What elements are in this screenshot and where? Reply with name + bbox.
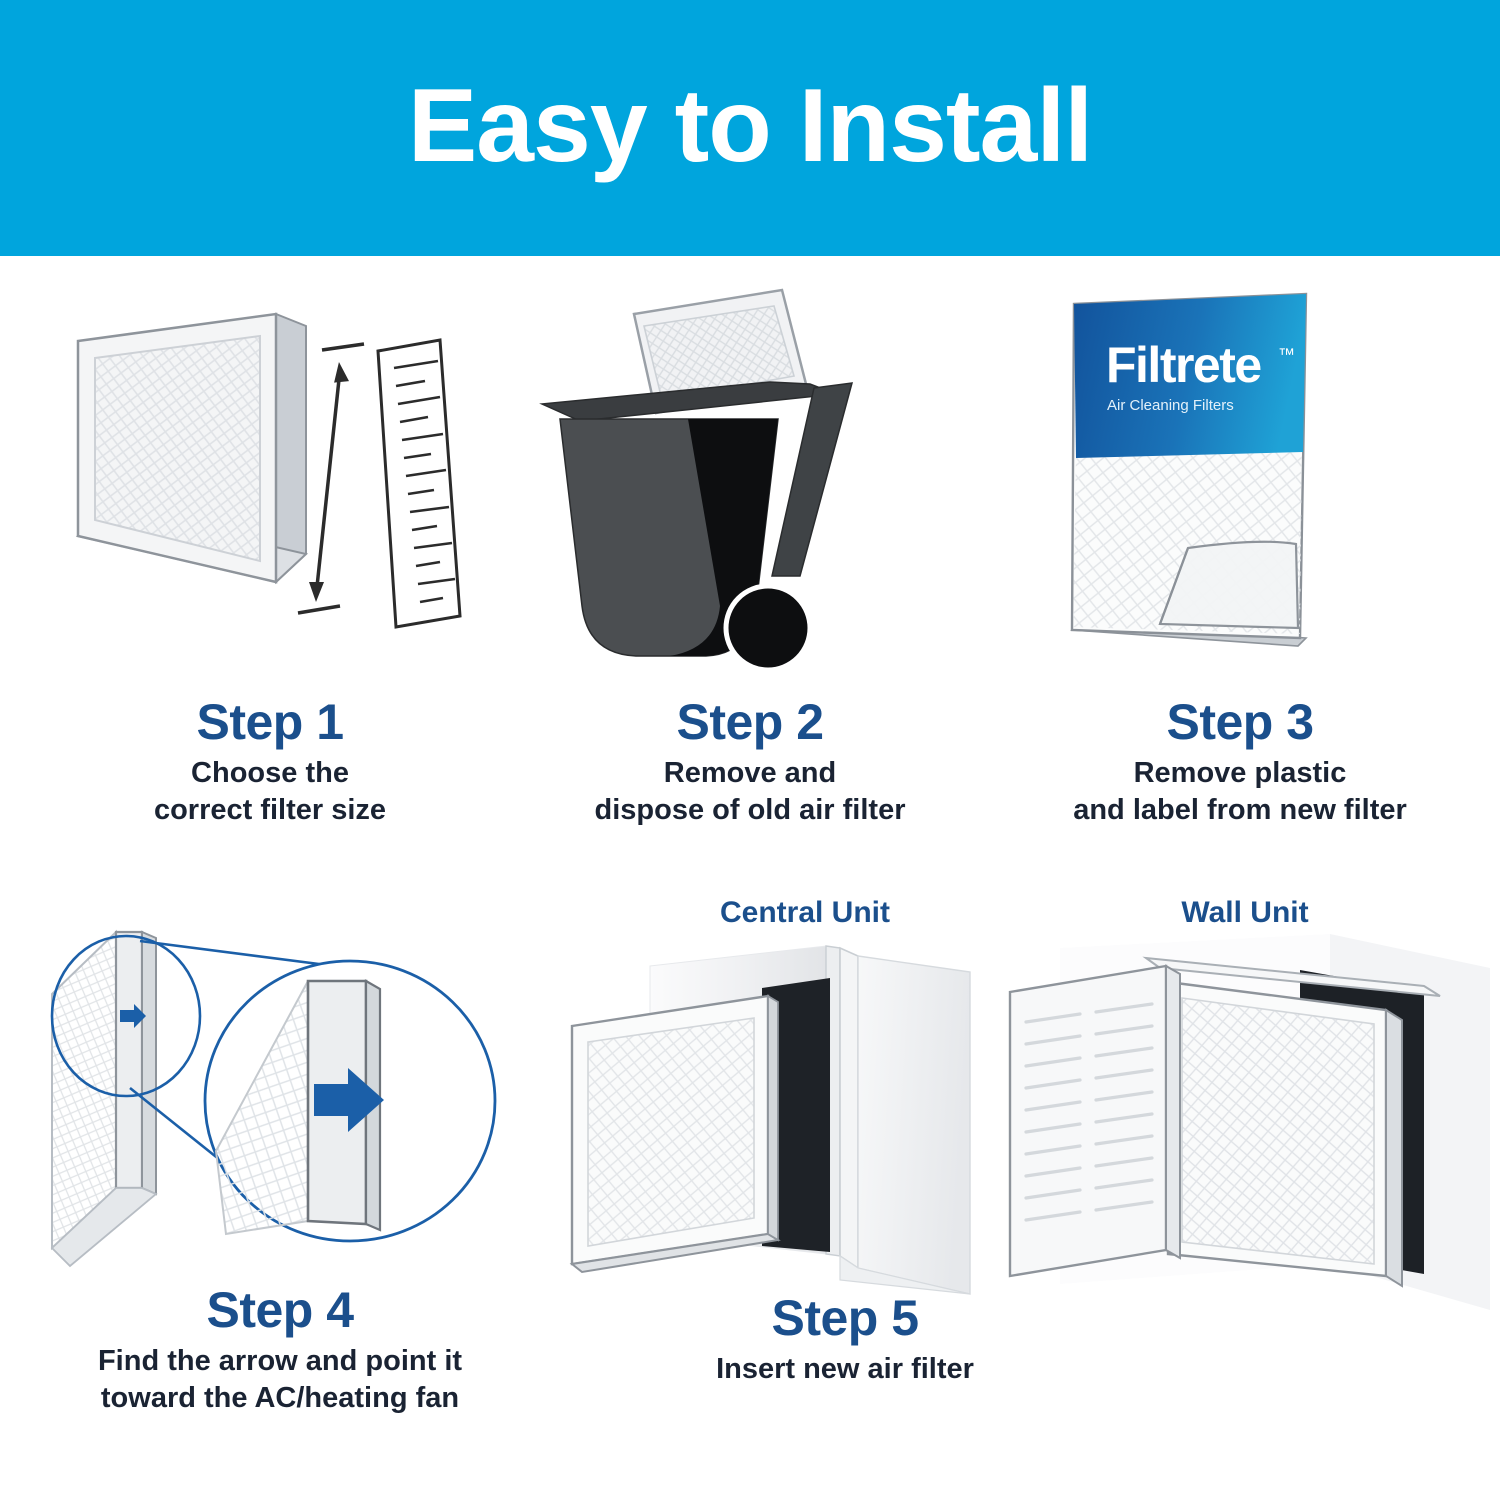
step-1-illustration bbox=[40, 296, 500, 696]
step-card-1: Step 1 Choose the correct filter size bbox=[40, 296, 500, 829]
central-unit-label: Central Unit bbox=[645, 898, 965, 928]
step-2-title: Step 2 bbox=[520, 696, 980, 749]
step-card-5: Central Unit Wall Unit bbox=[540, 886, 1490, 1388]
step-1-description: Choose the correct filter size bbox=[40, 755, 500, 829]
step-3-caption: Step 3 Remove plastic and label from new… bbox=[1010, 696, 1470, 829]
step-4-illustration bbox=[20, 886, 540, 1276]
wall-unit-group bbox=[1010, 934, 1490, 1310]
step-5-description: Insert new air filter bbox=[565, 1351, 1125, 1388]
step-4-description: Find the arrow and point it toward the A… bbox=[20, 1343, 540, 1417]
measurement-arrow-icon bbox=[298, 344, 364, 613]
package-trademark-text: ™ bbox=[1278, 345, 1295, 364]
step-2-illustration bbox=[520, 276, 980, 696]
step-3-title: Step 3 bbox=[1010, 696, 1470, 749]
step-card-3: Filtrete ™ Air Cleaning Filters Step 3 R… bbox=[1010, 286, 1470, 829]
filtrete-packaged-filter-icon: Filtrete ™ Air Cleaning Filters bbox=[1010, 286, 1470, 696]
step-card-4: Step 4 Find the arrow and point it towar… bbox=[20, 886, 540, 1417]
trash-bin-with-old-filter-icon bbox=[520, 276, 980, 696]
ruler-icon bbox=[378, 340, 460, 627]
package-tagline-text: Air Cleaning Filters bbox=[1107, 397, 1234, 414]
wall-unit-filter bbox=[1168, 982, 1402, 1286]
step-1-title: Step 1 bbox=[40, 696, 500, 749]
filter-edge-view bbox=[52, 932, 156, 1266]
bin-lid-handle bbox=[772, 383, 852, 576]
steps-area: Step 1 Choose the correct filter size bbox=[0, 256, 1500, 1500]
step-4-caption: Step 4 Find the arrow and point it towar… bbox=[20, 1284, 540, 1417]
page-title: Easy to Install bbox=[408, 74, 1092, 178]
wall-unit-label: Wall Unit bbox=[1085, 898, 1405, 928]
step-2-description: Remove and dispose of old air filter bbox=[520, 755, 980, 829]
bin-wheel bbox=[726, 586, 810, 670]
step-3-illustration: Filtrete ™ Air Cleaning Filters bbox=[1010, 286, 1470, 696]
step-card-2: Step 2 Remove and dispose of old air fil… bbox=[520, 276, 980, 829]
filter-edge-arrow-magnified-icon bbox=[20, 886, 540, 1276]
step-4-title: Step 4 bbox=[20, 1284, 540, 1337]
central-unit-group bbox=[572, 946, 970, 1294]
step-2-caption: Step 2 Remove and dispose of old air fil… bbox=[520, 696, 980, 829]
central-and-wall-unit-install-icon bbox=[540, 934, 1490, 1334]
central-unit-filter bbox=[572, 996, 778, 1272]
wall-unit-grille-door bbox=[1010, 966, 1180, 1276]
step-1-caption: Step 1 Choose the correct filter size bbox=[40, 696, 500, 829]
step-3-description: Remove plastic and label from new filter bbox=[1010, 755, 1470, 829]
air-filter-with-ruler-icon bbox=[40, 296, 500, 696]
step-5-illustration: Central Unit Wall Unit bbox=[540, 886, 1490, 1286]
package-brand-text: Filtrete bbox=[1106, 337, 1261, 393]
header-banner: Easy to Install bbox=[0, 0, 1500, 256]
